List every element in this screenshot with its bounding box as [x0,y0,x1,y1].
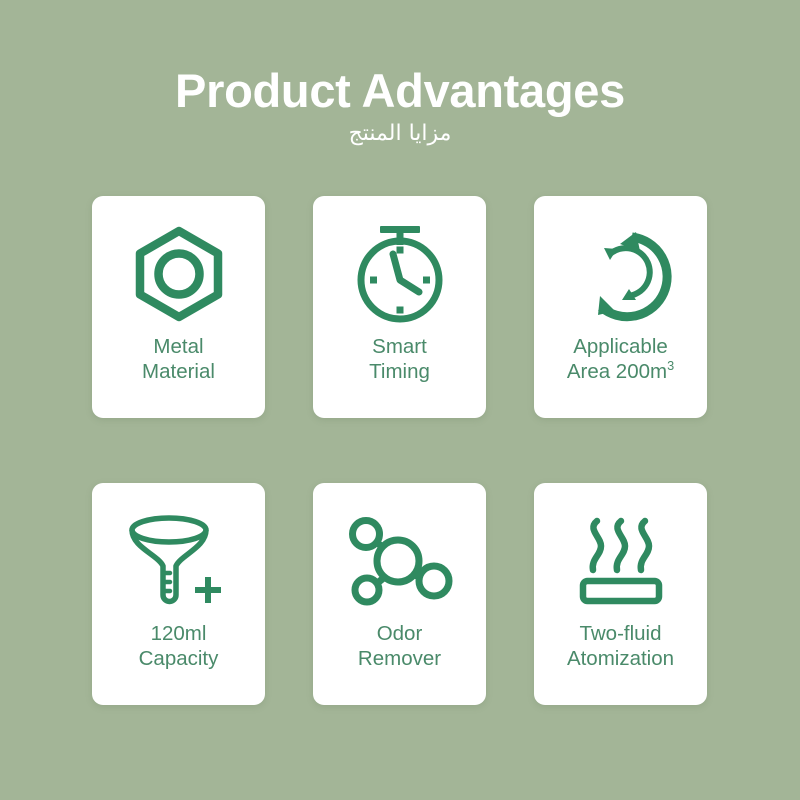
label-line-2: Timing [369,360,430,383]
advantage-card-label: OdorRemover [354,621,445,671]
page-header: Product Advantages مزايا المنتج [0,0,800,148]
hex-nut-icon [120,222,238,326]
label-line-2: Atomization [567,647,674,670]
label-line-2: Area 200m [567,360,667,383]
label-line-2: Remover [358,647,441,670]
page-title: Product Advantages [0,66,800,115]
label-line-2: Capacity [139,647,219,670]
advantage-card-label: MetalMaterial [138,334,219,384]
advantage-card-label: 120mlCapacity [135,621,223,671]
advantage-card-label: Two-fluidAtomization [563,621,678,671]
advantage-card-odor-remover[interactable]: OdorRemover [313,483,486,705]
page-subtitle-arabic: مزايا المنتج [0,121,800,147]
label-superscript: 3 [667,358,674,373]
funnel-plus-icon [120,509,238,613]
product-advantages-page: Product Advantages مزايا المنتج MetalMat… [0,0,800,800]
label-line-1: Metal [153,335,203,358]
label-line-1: Smart [372,335,427,358]
label-line-2: Material [142,360,215,383]
advantage-card-smart-timing[interactable]: SmartTiming [313,196,486,418]
molecule-icon [341,509,459,613]
advantage-card-metal-material[interactable]: MetalMaterial [92,196,265,418]
advantage-card-label: ApplicableArea 200m3 [563,334,678,384]
advantages-grid: MetalMaterial SmartTiming [92,196,708,705]
advantage-card-atomization[interactable]: Two-fluidAtomization [534,483,707,705]
stopwatch-icon [341,222,459,326]
advantage-card-label: SmartTiming [365,334,434,384]
label-line-1: Odor [377,622,423,645]
circular-arrows-icon [562,222,680,326]
label-line-1: Two-fluid [579,622,661,645]
label-line-1: 120ml [151,622,207,645]
advantage-card-applicable-area[interactable]: ApplicableArea 200m3 [534,196,707,418]
steam-vapor-icon [562,509,680,613]
advantage-card-capacity[interactable]: 120mlCapacity [92,483,265,705]
label-line-1: Applicable [573,335,668,358]
